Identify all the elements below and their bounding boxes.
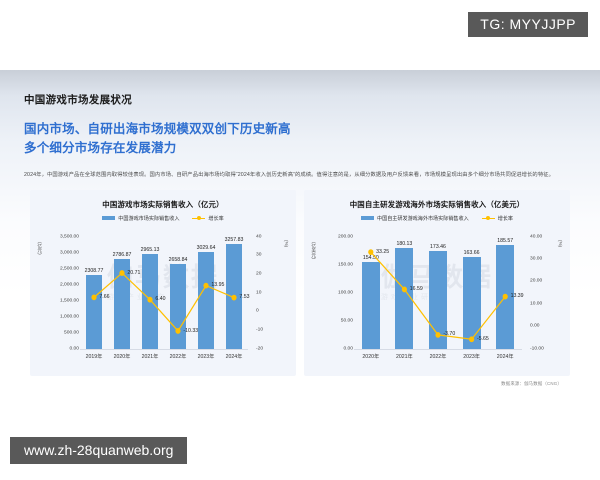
bar-slot: 2965.13 [136,237,164,349]
x-tick: 2020年 [108,353,136,360]
y-tick-left: 200.00 [338,234,353,239]
x-tick: 2021年 [136,353,164,360]
growth-value-label: 13.95 [211,282,224,288]
x-tick: 2022年 [164,353,192,360]
growth-value-label: -10.33 [183,328,198,334]
y-tick-right: 20 [256,271,261,276]
y-tick-right: 30.00 [530,256,542,261]
y-tick-left: 3,000.00 [60,250,79,255]
y-tick-left: 1,500.00 [60,298,79,303]
chart-title-domestic: 中国游戏市场实际销售收入（亿元） [36,199,290,210]
plot-canvas-overseas: 154.50180.13173.46163.66185.57 33.2516.5… [354,237,522,350]
y-axis-left-domestic: 3,500.003,000.002,500.002,000.001,500.00… [45,237,79,349]
x-tick: 2023年 [192,353,220,360]
y-axis-left-overseas: 200.00150.00100.0050.000.00 [319,237,353,349]
bar-slot: 2786.87 [108,237,136,349]
bar-value-label: 185.57 [497,238,513,244]
bar-value-label: 3257.83 [225,237,244,243]
y-tick-right: 20.00 [530,279,542,284]
bar-swatch-icon-2 [361,216,374,220]
y-tick-right: 40.00 [530,234,542,239]
chart-legend-domestic: 中国游戏市场实际销售收入 增长率 [36,215,290,222]
headline-line-1: 国内市场、自研出海市场规模双双创下历史新高 [24,120,576,139]
growth-value-label: -5.65 [477,336,489,342]
y-tick-right: -10 [256,327,263,332]
y-tick-right: 30 [256,253,261,258]
headline-line-2: 多个细分市场存在发展潜力 [24,139,576,158]
bar [395,248,413,349]
legend-item-bar: 中国游戏市场实际销售收入 [102,215,179,222]
bar [198,252,213,349]
bar-slot: 2308.77 [80,237,108,349]
legend-label-bar-2: 中国自主研发游戏海外市场实际销售收入 [377,215,469,222]
growth-value-label: 13.39 [511,293,524,299]
chart-title-overseas: 中国自主研发游戏海外市场实际销售收入（亿美元） [310,199,564,210]
legend-item-bar-2: 中国自主研发游戏海外市场实际销售收入 [361,215,469,222]
y-tick-left: 100.00 [338,290,353,295]
bar [86,275,101,349]
legend-item-line: 增长率 [192,215,223,222]
bar-swatch-icon [102,216,115,220]
x-tick: 2022年 [421,353,455,360]
y-tick-right: -10.00 [530,346,544,351]
y-axis-right-domestic: 403020100-10-20 [250,237,284,349]
bar-value-label: 2965.13 [141,247,160,253]
chart-card-overseas-market: 伽马数据 游戏产业研究 中国自主研发游戏海外市场实际销售收入（亿美元） 中国自主… [304,190,570,376]
plot-area-overseas: （亿美元） （%） 200.00150.00100.0050.000.00 40… [310,225,564,367]
legend-item-line-2: 增长率 [482,215,513,222]
y-tick-left: 50.00 [341,318,353,323]
bar-value-label: 2308.77 [85,268,104,274]
y-tick-left: 0.00 [343,346,353,351]
growth-value-label: 6.40 [155,296,165,302]
y-tick-left: 1,000.00 [60,314,79,319]
bar-value-label: 3029.64 [197,245,216,251]
legend-label-line-2: 增长率 [498,215,513,222]
y-axis-right-overseas: 40.0030.0020.0010.000.00-10.00 [524,237,558,349]
bar [463,257,481,349]
y-tick-left: 500.00 [64,330,79,335]
plot-area-domestic: （亿元） （%） 3,500.003,000.002,500.002,000.0… [36,225,290,367]
bar-value-label: 2658.84 [169,257,188,263]
x-tick: 2020年 [354,353,388,360]
y-tick-right: 0.00 [530,324,540,329]
growth-value-label: -3.70 [443,331,455,337]
article-headline: 国内市场、自研出海市场规模双双创下历史新高 多个细分市场存在发展潜力 [24,120,576,159]
growth-value-label: 7.66 [99,294,109,300]
growth-value-label: 33.25 [376,249,389,255]
site-url-watermark: www.zh-28quanweb.org [10,437,187,464]
bar-value-label: 154.50 [363,255,379,261]
growth-value-label: 7.53 [239,294,249,300]
x-tick: 2023年 [455,353,489,360]
y-tick-left: 150.00 [338,262,353,267]
growth-value-label: 20.71 [127,270,140,276]
chart-card-domestic-market: 伽马数据 游戏产业研究 中国游戏市场实际销售收入（亿元） 中国游戏市场实际销售收… [30,190,296,376]
line-swatch-icon [192,216,205,220]
bar-value-label: 163.66 [464,250,480,256]
y-tick-right: 0 [256,309,259,314]
charts-row: 伽马数据 游戏产业研究 中国游戏市场实际销售收入（亿元） 中国游戏市场实际销售收… [24,190,576,376]
bar-value-label: 2786.87 [113,252,132,258]
y-tick-right: 10.00 [530,301,542,306]
y-axis-unit-left-domestic: （亿元） [37,239,43,257]
y-tick-right: 40 [256,234,261,239]
x-axis-overseas: 2020年2021年2022年2023年2024年 [354,353,522,360]
y-tick-right: -20 [256,346,263,351]
y-tick-left: 0.00 [69,346,79,351]
bar-slot: 3257.83 [220,237,248,349]
y-tick-right: 10 [256,290,261,295]
chart-source-note: 数据来源：伽马数据（CNG） [24,376,576,387]
y-tick-left: 2,500.00 [60,266,79,271]
bar-value-label: 180.13 [396,241,412,247]
x-axis-domestic: 2019年2020年2021年2022年2023年2024年 [80,353,248,360]
article-body: 中国游戏市场发展状况 国内市场、自研出海市场规模双双创下历史新高 多个细分市场存… [0,70,600,435]
x-tick: 2021年 [388,353,422,360]
bar-slot: 180.13 [388,237,422,349]
telegram-watermark-tag: TG: MYYJJPP [468,12,588,37]
y-axis-unit-right-overseas: （%） [557,237,563,250]
page-root: TG: MYYJJPP 中国游戏市场发展状况 国内市场、自研出海市场规模双双创下… [0,0,600,480]
bar [362,262,380,349]
y-axis-unit-right-domestic: （%） [283,237,289,250]
plot-canvas-domestic: 2308.772786.872965.132658.843029.643257.… [80,237,248,350]
x-tick: 2024年 [488,353,522,360]
bar [170,264,185,349]
x-tick: 2019年 [80,353,108,360]
article-paragraph: 2024年，中国游戏产品在全球范围内取得较佳表现。国内市场、自研产品出海市场均取… [24,170,576,181]
bar-value-label: 173.46 [430,244,446,250]
y-axis-unit-left-overseas: （亿美元） [311,239,317,262]
line-swatch-icon-2 [482,216,495,220]
growth-value-label: 16.59 [410,286,423,292]
y-tick-left: 2,000.00 [60,282,79,287]
bar-slot: 163.66 [455,237,489,349]
chart-legend-overseas: 中国自主研发游戏海外市场实际销售收入 增长率 [310,215,564,222]
legend-label-bar: 中国游戏市场实际销售收入 [118,215,179,222]
legend-label-line: 增长率 [208,215,223,222]
x-tick: 2024年 [220,353,248,360]
article-kicker: 中国游戏市场发展状况 [24,92,576,107]
y-tick-left: 3,500.00 [60,234,79,239]
